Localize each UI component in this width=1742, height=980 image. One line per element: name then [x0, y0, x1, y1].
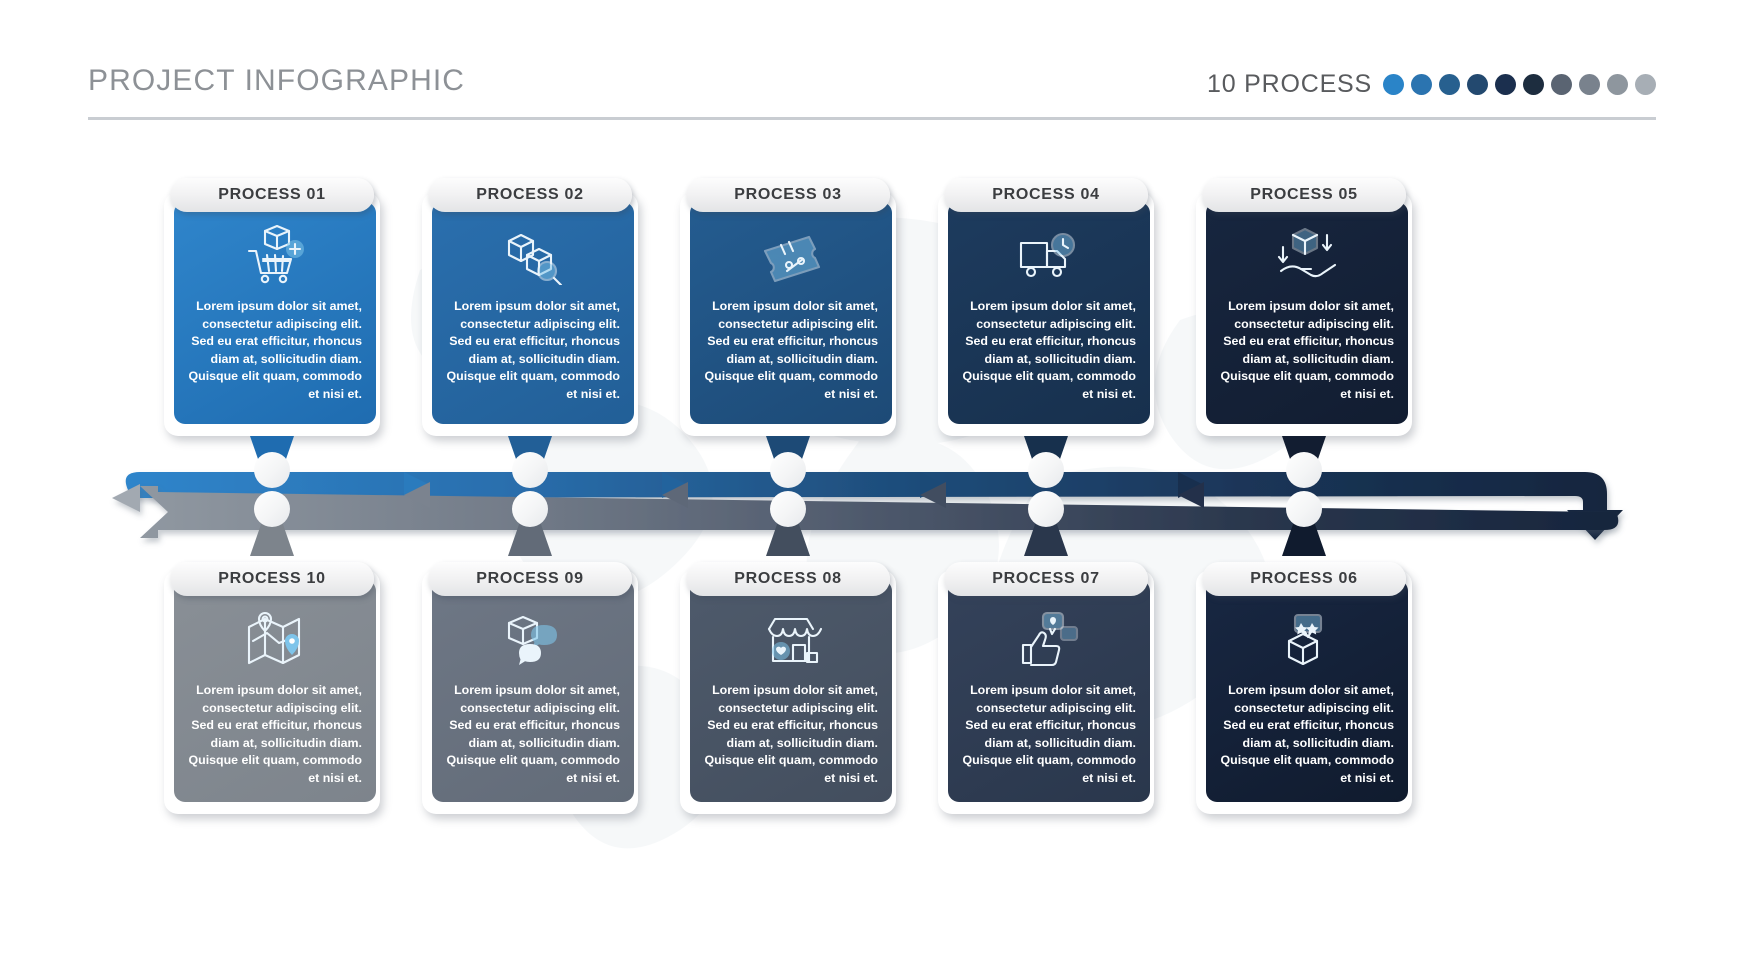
card-description: Lorem ipsum dolor sit amet, consectetur … [188, 298, 362, 404]
card-body: Lorem ipsum dolor sit amet, consectetur … [432, 202, 634, 424]
timeline-node-top-2[interactable] [512, 452, 548, 488]
delivery-truck-time-icon [962, 222, 1136, 288]
timeline-node-top-4[interactable] [1028, 452, 1064, 488]
process-dot-8 [1579, 74, 1600, 95]
timeline-node-bottom-3[interactable] [770, 491, 806, 527]
card-label: PROCESS 02 [476, 186, 583, 204]
card-description: Lorem ipsum dolor sit amet, consectetur … [704, 298, 878, 404]
card-body: Lorem ipsum dolor sit amet, consectetur … [174, 580, 376, 802]
process-dot-4 [1467, 74, 1488, 95]
timeline-node-bottom-5[interactable] [1286, 491, 1322, 527]
card-description: Lorem ipsum dolor sit amet, consectetur … [1220, 298, 1394, 404]
header-process-count: 10 PROCESS [1207, 70, 1656, 99]
card-description: Lorem ipsum dolor sit amet, consectetur … [1220, 682, 1394, 788]
cart-add-box-icon [188, 222, 362, 288]
card-label: PROCESS 07 [992, 570, 1099, 588]
process-dot-10 [1635, 74, 1656, 95]
hand-package-receive-icon [1220, 222, 1394, 288]
timeline-node-top-1[interactable] [254, 452, 290, 488]
boxes-search-icon [446, 222, 620, 288]
card-label-pill[interactable]: PROCESS 04 [944, 178, 1148, 212]
box-review-stars-icon [1220, 606, 1394, 672]
page-title: PROJECT INFOGRAPHIC [88, 64, 465, 98]
card-description: Lorem ipsum dolor sit amet, consectetur … [962, 682, 1136, 788]
timeline-node-bottom-4[interactable] [1028, 491, 1064, 527]
card-body: Lorem ipsum dolor sit amet, consectetur … [690, 580, 892, 802]
card-label-pill[interactable]: PROCESS 05 [1202, 178, 1406, 212]
thumbs-up-feedback-icon [962, 606, 1136, 672]
card-label: PROCESS 06 [1250, 570, 1357, 588]
card-description: Lorem ipsum dolor sit amet, consectetur … [962, 298, 1136, 404]
card-label-pill[interactable]: PROCESS 02 [428, 178, 632, 212]
card-label-pill[interactable]: PROCESS 07 [944, 562, 1148, 596]
process-dot-row [1383, 74, 1656, 95]
card-label: PROCESS 10 [218, 570, 325, 588]
card-body: Lorem ipsum dolor sit amet, consectetur … [174, 202, 376, 424]
card-body: Lorem ipsum dolor sit amet, consectetur … [948, 580, 1150, 802]
card-label-pill[interactable]: PROCESS 01 [170, 178, 374, 212]
chat-support-icon [446, 606, 620, 672]
card-label: PROCESS 04 [992, 186, 1099, 204]
process-dot-9 [1607, 74, 1628, 95]
card-body: Lorem ipsum dolor sit amet, consectetur … [690, 202, 892, 424]
process-dot-6 [1523, 74, 1544, 95]
card-description: Lorem ipsum dolor sit amet, consectetur … [188, 682, 362, 788]
card-description: Lorem ipsum dolor sit amet, consectetur … [446, 682, 620, 788]
card-label: PROCESS 03 [734, 186, 841, 204]
page-header: PROJECT INFOGRAPHIC 10 PROCESS [88, 64, 1656, 120]
card-label-pill[interactable]: PROCESS 09 [428, 562, 632, 596]
storefront-heart-icon [704, 606, 878, 672]
process-count-label: 10 PROCESS [1207, 70, 1372, 99]
card-body: Lorem ipsum dolor sit amet, consectetur … [1206, 580, 1408, 802]
card-body: Lorem ipsum dolor sit amet, consectetur … [1206, 202, 1408, 424]
card-label-pill[interactable]: PROCESS 10 [170, 562, 374, 596]
header-divider [88, 117, 1656, 120]
card-body: Lorem ipsum dolor sit amet, consectetur … [432, 580, 634, 802]
card-label: PROCESS 09 [476, 570, 583, 588]
coupon-ticket-icon [704, 222, 878, 288]
card-body: Lorem ipsum dolor sit amet, consectetur … [948, 202, 1150, 424]
timeline-node-bottom-2[interactable] [512, 491, 548, 527]
process-dot-5 [1495, 74, 1516, 95]
card-description: Lorem ipsum dolor sit amet, consectetur … [446, 298, 620, 404]
card-label-pill[interactable]: PROCESS 03 [686, 178, 890, 212]
timeline-node-top-3[interactable] [770, 452, 806, 488]
process-dot-1 [1383, 74, 1404, 95]
card-label: PROCESS 08 [734, 570, 841, 588]
map-location-icon [188, 606, 362, 672]
timeline-node-top-5[interactable] [1286, 452, 1322, 488]
card-label: PROCESS 05 [1250, 186, 1357, 204]
card-description: Lorem ipsum dolor sit amet, consectetur … [704, 682, 878, 788]
card-label-pill[interactable]: PROCESS 08 [686, 562, 890, 596]
card-label-pill[interactable]: PROCESS 06 [1202, 562, 1406, 596]
process-dot-3 [1439, 74, 1460, 95]
card-label: PROCESS 01 [218, 186, 325, 204]
process-dot-2 [1411, 74, 1432, 95]
process-dot-7 [1551, 74, 1572, 95]
timeline-node-bottom-1[interactable] [254, 491, 290, 527]
